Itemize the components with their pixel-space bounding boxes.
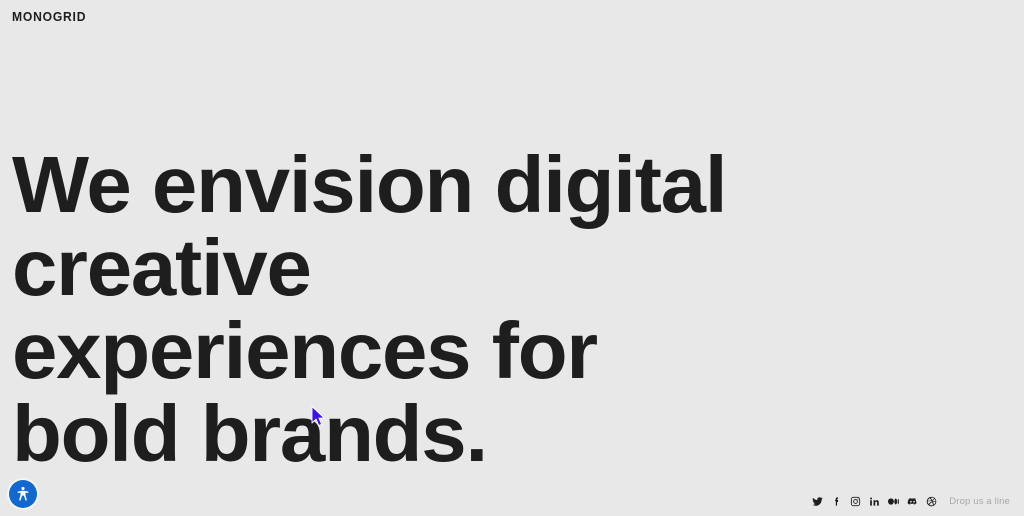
social-link-linkedin[interactable] (869, 496, 880, 507)
instagram-icon (850, 496, 861, 507)
social-link-medium[interactable] (888, 496, 899, 507)
social-link-dribbble[interactable] (926, 496, 937, 507)
contact-link[interactable]: Drop us a line (949, 496, 1010, 507)
social-links (812, 496, 937, 507)
site-header: MONOGRID (0, 0, 1024, 34)
logo-monogrid[interactable]: MONOGRID (12, 11, 86, 24)
site-footer: Drop us a line (812, 496, 1010, 507)
social-link-instagram[interactable] (850, 496, 861, 507)
hero-section: We envision digital creative experiences… (12, 143, 1024, 475)
social-link-discord[interactable] (907, 496, 918, 507)
accessibility-widget-button[interactable] (9, 480, 37, 508)
accessibility-person-icon (14, 485, 32, 503)
hero-headline-line-3: experiences for (12, 309, 1024, 392)
dribbble-icon (926, 496, 937, 507)
hero-headline-line-1: We envision digital (12, 143, 1024, 226)
facebook-icon (831, 496, 842, 507)
twitter-icon (812, 496, 823, 507)
discord-icon (907, 496, 918, 507)
linkedin-icon (869, 496, 880, 507)
medium-icon (888, 496, 899, 507)
social-link-facebook[interactable] (831, 496, 842, 507)
hero-headline-line-4: bold brands. (12, 392, 1024, 475)
hero-headline-line-2: creative (12, 226, 1024, 309)
social-link-twitter[interactable] (812, 496, 823, 507)
